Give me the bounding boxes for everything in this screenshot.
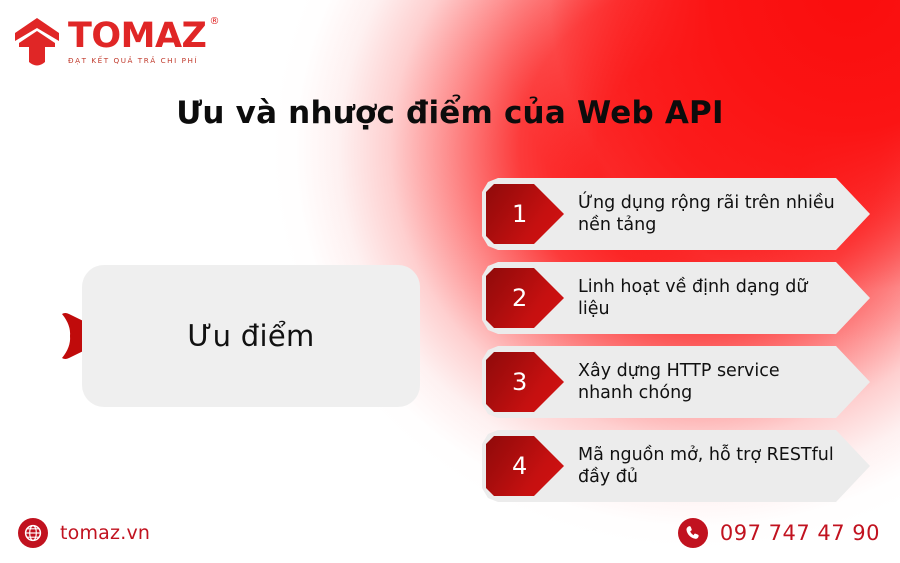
list-item-text: Linh hoạt về định dạng dữ liệu xyxy=(578,276,840,320)
tomaz-arrow-logo-icon xyxy=(14,16,60,68)
logo-tagline: ĐẠT KẾT QUẢ TRẢ CHI PHÍ xyxy=(68,56,206,65)
logo-text-block: TOMAZ ® ĐẠT KẾT QUẢ TRẢ CHI PHÍ xyxy=(68,16,206,65)
list-item[interactable]: 4 Mã nguồn mở, hỗ trợ RESTful đầy đủ xyxy=(482,430,870,502)
brand-logo[interactable]: TOMAZ ® ĐẠT KẾT QUẢ TRẢ CHI PHÍ xyxy=(14,16,206,68)
phone-icon xyxy=(678,518,708,548)
website-label: tomaz.vn xyxy=(60,522,150,544)
list-item-number: 2 xyxy=(512,286,527,310)
list-item-number: 4 xyxy=(512,454,527,478)
footer-website[interactable]: tomaz.vn xyxy=(18,518,150,548)
list-item-text: Xây dựng HTTP service nhanh chóng xyxy=(578,360,840,404)
list-item-number: 1 xyxy=(512,202,527,226)
list-item[interactable]: 2 Linh hoạt về định dạng dữ liệu xyxy=(482,262,870,334)
list-item-text: Mã nguồn mở, hỗ trợ RESTful đầy đủ xyxy=(578,444,840,488)
globe-icon xyxy=(18,518,48,548)
infographic-canvas: TOMAZ ® ĐẠT KẾT QUẢ TRẢ CHI PHÍ Ưu và nh… xyxy=(0,0,900,563)
list-item-number: 3 xyxy=(512,370,527,394)
footer-phone[interactable]: 097 747 47 90 xyxy=(678,518,880,548)
list-item[interactable]: 1 Ứng dụng rộng rãi trên nhiều nền tảng xyxy=(482,178,870,250)
phone-label: 097 747 47 90 xyxy=(720,521,880,545)
advantages-list: 1 Ứng dụng rộng rãi trên nhiều nền tảng … xyxy=(482,178,870,502)
page-title: Ưu và nhược điểm của Web API xyxy=(0,95,900,131)
registered-trademark-icon: ® xyxy=(209,16,219,27)
left-panel-uu-diem[interactable]: Ưu điểm xyxy=(82,265,420,407)
list-item[interactable]: 3 Xây dựng HTTP service nhanh chóng xyxy=(482,346,870,418)
list-item-text: Ứng dụng rộng rãi trên nhiều nền tảng xyxy=(578,192,840,236)
left-panel-label: Ưu điểm xyxy=(187,319,314,353)
logo-wordmark: TOMAZ xyxy=(68,19,206,54)
